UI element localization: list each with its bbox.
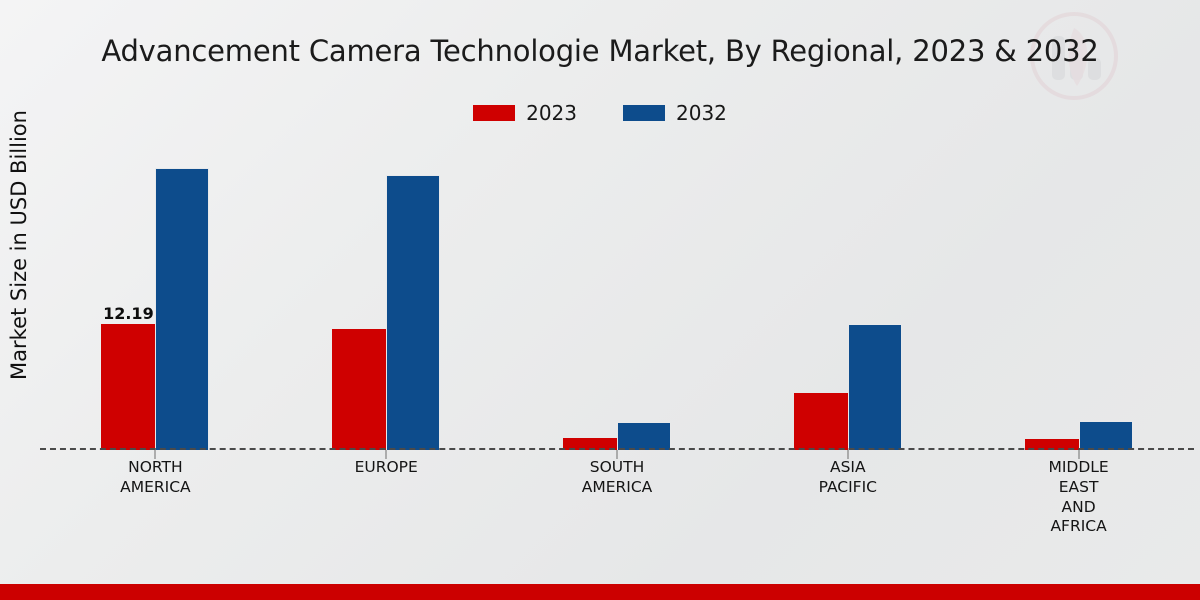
footer-accent-bar <box>0 584 1200 600</box>
x-axis-category-label: SOUTHAMERICA <box>502 458 733 537</box>
bar-2032[interactable] <box>155 168 209 450</box>
bar-group <box>271 140 502 450</box>
category-label-line: AMERICA <box>502 478 733 498</box>
bar-2032[interactable] <box>848 324 902 450</box>
bar-groups: 12.19 <box>40 140 1194 450</box>
y-axis-title: Market Size in USD Billion <box>2 0 36 600</box>
x-axis-category-label: MIDDLEEASTANDAFRICA <box>963 458 1194 537</box>
chart-legend: 2023 2032 <box>0 103 1200 123</box>
category-label-line: ASIA <box>732 458 963 478</box>
bar-group <box>502 140 733 450</box>
category-label-line: MIDDLE <box>963 458 1194 478</box>
bar-pair <box>794 324 902 450</box>
x-axis-baseline <box>40 448 1194 450</box>
bar-pair: 12.19 <box>101 168 209 450</box>
bar-2032[interactable] <box>386 175 440 450</box>
category-label-line: SOUTH <box>502 458 733 478</box>
y-axis-title-text: Market Size in USD Billion <box>7 110 31 380</box>
legend-swatch-blue-icon <box>623 105 665 121</box>
bar-2023[interactable] <box>794 393 848 450</box>
legend-label-2032: 2032 <box>676 103 727 123</box>
category-label-line: EAST <box>963 478 1194 498</box>
x-axis-category-label: ASIAPACIFIC <box>732 458 963 537</box>
chart-canvas: Advancement Camera Technologie Market, B… <box>0 0 1200 600</box>
bar-group: 12.19 <box>40 140 271 450</box>
bar-group <box>732 140 963 450</box>
category-label-line: AMERICA <box>40 478 271 498</box>
category-label-line: PACIFIC <box>732 478 963 498</box>
category-label-line: NORTH <box>40 458 271 478</box>
bar-2023[interactable] <box>332 329 386 450</box>
x-axis-category-labels: NORTHAMERICAEUROPESOUTHAMERICAASIAPACIFI… <box>40 458 1194 537</box>
bar-pair <box>563 422 671 450</box>
x-axis-category-label: EUROPE <box>271 458 502 537</box>
bar-2032[interactable] <box>617 422 671 450</box>
bar-value-label: 12.19 <box>103 304 154 323</box>
category-label-line: AFRICA <box>963 517 1194 537</box>
bar-pair <box>1025 421 1133 450</box>
legend-item-2032[interactable]: 2032 <box>623 103 727 123</box>
legend-label-2023: 2023 <box>526 103 577 123</box>
bar-2032[interactable] <box>1079 421 1133 450</box>
x-axis-category-label: NORTHAMERICA <box>40 458 271 537</box>
category-label-line: AND <box>963 498 1194 518</box>
legend-swatch-red-icon <box>473 105 515 121</box>
legend-item-2023[interactable]: 2023 <box>473 103 577 123</box>
bar-group <box>963 140 1194 450</box>
bar-2023[interactable]: 12.19 <box>101 324 155 450</box>
category-label-line: EUROPE <box>271 458 502 478</box>
plot-area: 12.19 <box>40 140 1194 450</box>
bar-pair <box>332 175 440 450</box>
page-title: Advancement Camera Technologie Market, B… <box>0 34 1200 68</box>
